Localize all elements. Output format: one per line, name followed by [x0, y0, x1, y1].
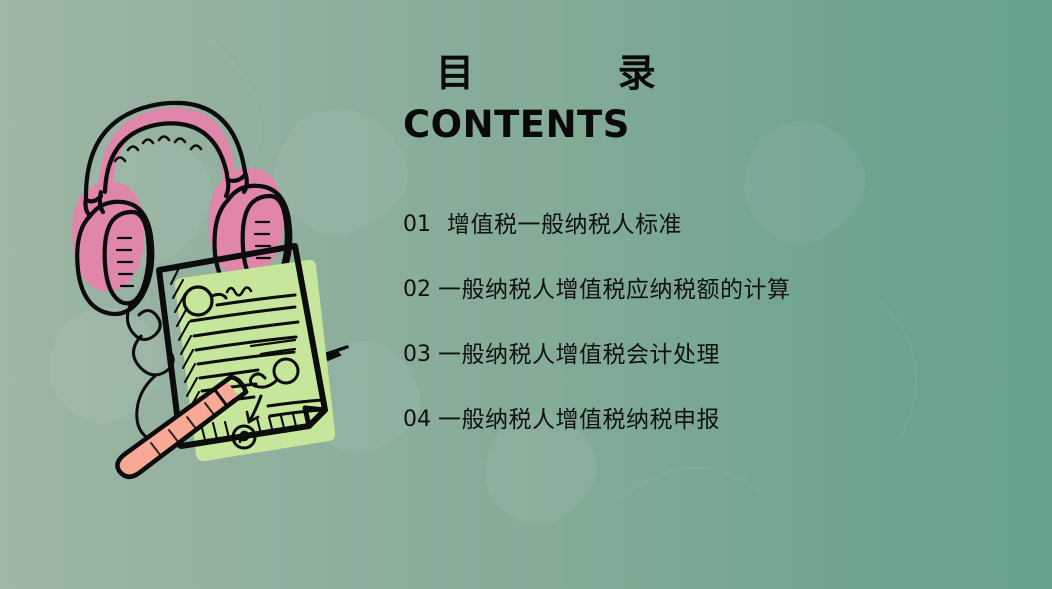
toc-item-number: 01: [403, 214, 431, 236]
toc-item-label: 一般纳税人增值税应纳税额的计算: [438, 279, 791, 302]
toc-item-label: 一般纳税人增值税会计处理: [438, 344, 720, 367]
toc-item[interactable]: 02 一般纳税人增值税应纳税额的计算: [403, 279, 1043, 344]
page-title-chinese: 目 录: [403, 52, 1043, 96]
slide-canvas: 目 录 CONTENTS 01 增值税一般纳税人标准 02 一般纳税人增值税应纳…: [0, 0, 1052, 589]
toc-item[interactable]: 01 增值税一般纳税人标准: [403, 214, 1043, 279]
headphones-notepad-illustration: [55, 88, 385, 488]
toc-item-number: 02: [403, 279, 431, 301]
title-block: 目 录 CONTENTS: [403, 52, 1043, 145]
toc-item[interactable]: 03 一般纳税人增值税会计处理: [403, 344, 1043, 409]
table-of-contents-list: 01 增值税一般纳税人标准 02 一般纳税人增值税应纳税额的计算 03 一般纳税…: [403, 214, 1043, 474]
toc-item[interactable]: 04 一般纳税人增值税纳税申报: [403, 409, 1043, 474]
toc-item-number: 04: [403, 409, 431, 431]
toc-item-number: 03: [403, 344, 431, 366]
page-title-english: CONTENTS: [403, 105, 1043, 146]
toc-item-label: 增值税一般纳税人标准: [447, 214, 682, 237]
content-column: 目 录 CONTENTS 01 增值税一般纳税人标准 02 一般纳税人增值税应纳…: [403, 0, 1043, 589]
paper-fill: [175, 260, 335, 461]
toc-item-label: 一般纳税人增值税纳税申报: [438, 409, 720, 432]
